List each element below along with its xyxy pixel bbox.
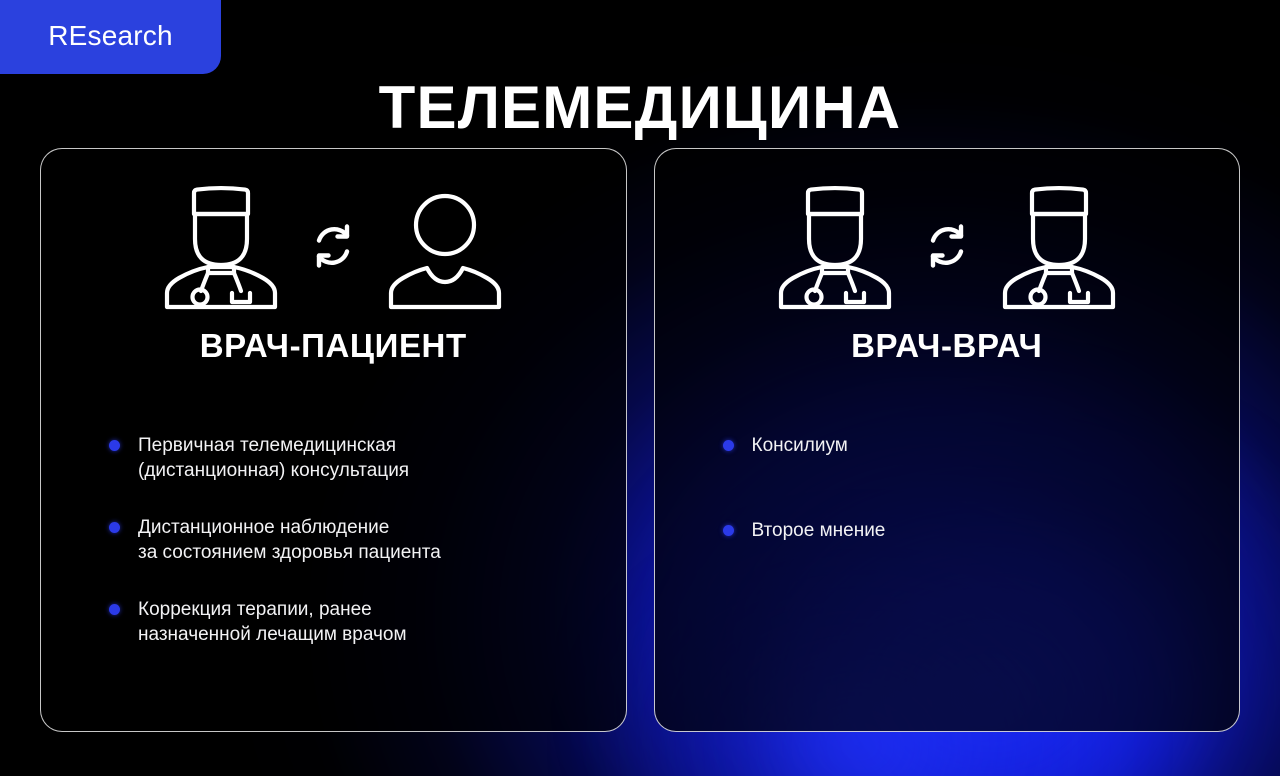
bullet-text: Первичная телемедицинская (дистанционная… <box>138 433 409 483</box>
bullet-list-doctor-doctor: Консилиум Второе мнение <box>655 433 1240 575</box>
list-item: Дистанционное наблюдение за состоянием з… <box>109 515 600 565</box>
list-item: Консилиум <box>723 433 1214 458</box>
patient-icon <box>387 181 503 311</box>
icon-row-doctor-patient <box>163 171 503 321</box>
card-heading-doctor-doctor: ВРАЧ-ВРАЧ <box>851 329 1042 362</box>
bullet-dot-icon <box>109 522 120 533</box>
bullet-dot-icon <box>723 440 734 451</box>
card-heading-doctor-patient: ВРАЧ-ПАЦИЕНТ <box>200 329 467 362</box>
bullet-text: Консилиум <box>752 433 848 458</box>
doctor-icon <box>1001 181 1117 311</box>
bullet-list-doctor-patient: Первичная телемедицинская (дистанционная… <box>41 433 626 679</box>
cards-container: ВРАЧ-ПАЦИЕНТ Первичная телемедицинская (… <box>40 148 1240 732</box>
doctor-icon <box>777 181 893 311</box>
list-item: Коррекция терапии, ранее назначенной леч… <box>109 597 600 647</box>
list-item: Первичная телемедицинская (дистанционная… <box>109 433 600 483</box>
card-doctor-doctor: ВРАЧ-ВРАЧ Консилиум Второе мнение <box>654 148 1241 732</box>
card-doctor-patient: ВРАЧ-ПАЦИЕНТ Первичная телемедицинская (… <box>40 148 627 732</box>
exchange-arrows-icon <box>921 220 973 272</box>
page-title: ТЕЛЕМЕДИЦИНА <box>0 78 1280 138</box>
bullet-text: Дистанционное наблюдение за состоянием з… <box>138 515 441 565</box>
icon-row-doctor-doctor <box>777 171 1117 321</box>
bullet-text: Коррекция терапии, ранее назначенной леч… <box>138 597 407 647</box>
slide-root: REsearch ТЕЛЕМЕДИЦИНА <box>0 0 1280 776</box>
list-item: Второе мнение <box>723 518 1214 543</box>
brand-badge-label: REsearch <box>48 22 173 52</box>
bullet-dot-icon <box>109 604 120 615</box>
bullet-text: Второе мнение <box>752 518 886 543</box>
bullet-dot-icon <box>109 440 120 451</box>
bullet-dot-icon <box>723 525 734 536</box>
doctor-icon <box>163 181 279 311</box>
exchange-arrows-icon <box>307 220 359 272</box>
brand-badge[interactable]: REsearch <box>0 0 221 74</box>
